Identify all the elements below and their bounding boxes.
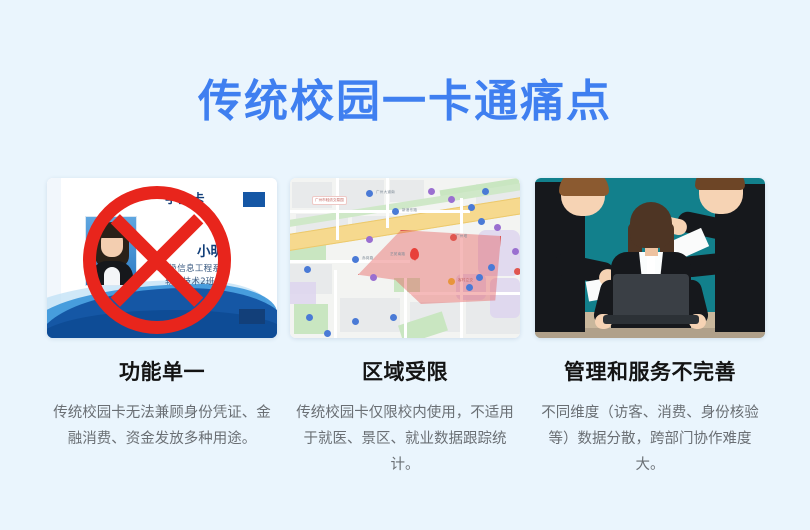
map-poi-dot [514, 268, 520, 275]
map-label: 艺苑南路 [390, 252, 405, 257]
red-x-prohibition-icon [83, 186, 231, 334]
office-stress-illustration [535, 178, 765, 338]
map-poi-dot [324, 330, 331, 337]
map-poi-dot [304, 266, 311, 273]
map-poi-dot [448, 278, 455, 285]
card-area-limited-image: 广州市轻纺交易园 广州大道南 新港东路 赤岗路 艺苑南路 客村立交 广州塔 [290, 178, 520, 338]
map-road [336, 178, 339, 240]
map-label: 广州大道南 [376, 190, 395, 195]
map-poi-dot [476, 274, 483, 281]
map-poi-dot [352, 318, 359, 325]
card-functionality: 学生卡 小明 23级信息工程系 软件技术2班 功能单一 传统校园卡无法兼顾身份凭… [47, 178, 277, 452]
map-road [290, 210, 470, 213]
map-label: 新港东路 [402, 208, 417, 213]
map-poi-dot [466, 284, 473, 291]
map-poi-dot [370, 274, 377, 281]
slide-root: 传统校园一卡通痛点 [0, 0, 810, 530]
id-card-badge-top [243, 192, 265, 207]
map-poi-dot [390, 314, 397, 321]
card-management: 管理和服务不完善 不同维度（访客、消费、身份核验等）数据分散，跨部门协作难度大。 [535, 178, 765, 478]
colleague-right-hair [695, 178, 745, 190]
card-management-heading: 管理和服务不完善 [535, 356, 765, 386]
map-poi-dot [366, 190, 373, 197]
map-label: 客村立交 [458, 278, 473, 283]
map-poi-dot [392, 208, 399, 215]
laptop-base [603, 315, 699, 324]
map-label: 广州塔 [456, 234, 467, 239]
id-card-badge-bottom [239, 309, 265, 324]
map-label: 广州市轻纺交易园 [312, 196, 347, 205]
map-road [334, 270, 337, 338]
map-view: 广州市轻纺交易园 广州大道南 新港东路 赤岗路 艺苑南路 客村立交 广州塔 [290, 178, 520, 338]
map-label: 赤岗路 [362, 256, 373, 261]
laptop-screen [613, 274, 689, 318]
colleague-left-hair [559, 178, 609, 196]
map-poi-dot [366, 236, 373, 243]
page-title: 传统校园一卡通痛点 [0, 78, 810, 126]
map-poi-dot [512, 248, 519, 255]
card-area-limited: 广州市轻纺交易园 广州大道南 新港东路 赤岗路 艺苑南路 客村立交 广州塔 区域… [290, 178, 520, 478]
map-poi-dot [494, 224, 501, 231]
card-functionality-body: 传统校园卡无法兼顾身份凭证、金融消费、资金发放多种用途。 [47, 400, 277, 452]
map-poi-dot [428, 188, 435, 195]
card-area-limited-body: 传统校园卡仅限校内使用，不适用于就医、景区、就业数据跟踪统计。 [290, 400, 520, 478]
card-area-limited-heading: 区域受限 [290, 356, 520, 386]
map-pin-icon [410, 248, 419, 260]
map-poi-dot [352, 256, 359, 263]
map-poi-dot [488, 264, 495, 271]
card-functionality-heading: 功能单一 [47, 356, 277, 386]
map-poi-dot [482, 188, 489, 195]
map-poi-dot [478, 218, 485, 225]
card-management-image [535, 178, 765, 338]
map-road [386, 178, 389, 228]
map-poi-dot [468, 204, 475, 211]
card-functionality-image: 学生卡 小明 23级信息工程系 软件技术2班 [47, 178, 277, 338]
worker-hair [630, 202, 672, 248]
map-poi-dot [448, 196, 455, 203]
map-poi-dot [306, 314, 313, 321]
card-management-body: 不同维度（访客、消费、身份核验等）数据分散，跨部门协作难度大。 [535, 400, 765, 478]
map-building-area [290, 282, 316, 304]
cards-row: 学生卡 小明 23级信息工程系 软件技术2班 功能单一 传统校园卡无法兼顾身份凭… [0, 178, 810, 518]
